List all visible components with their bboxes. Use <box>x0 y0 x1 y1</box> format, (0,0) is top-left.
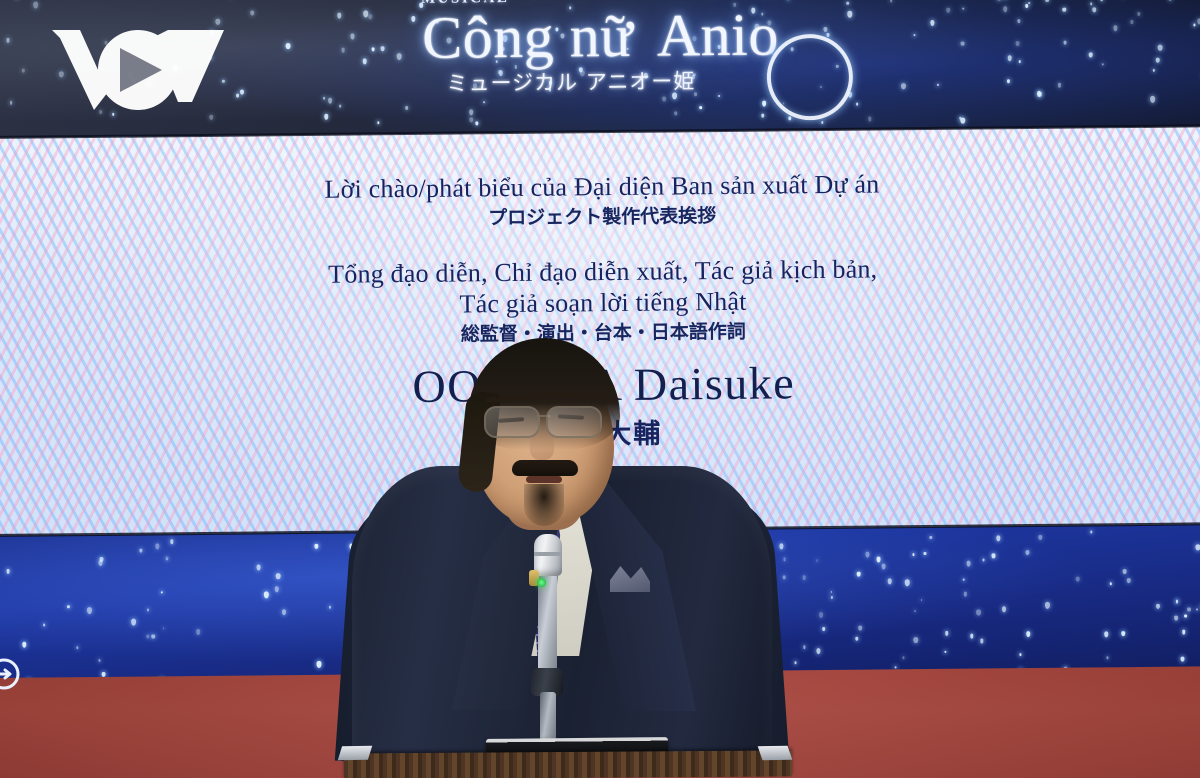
wooden-podium <box>344 750 792 778</box>
speaker-name-english: OOYAMA Daisuke <box>0 356 1200 416</box>
screenshot-stage: MUSICAL Công nữ Anio ミュージカル アニオー姫 Lời ch… <box>0 0 1200 778</box>
slide-bottom-starfield-band <box>0 524 1200 678</box>
next-slide-arrow-button[interactable] <box>0 657 21 691</box>
podium-edge-cap-left <box>338 746 372 761</box>
slide-title-accent-wrap: Anio <box>648 4 779 66</box>
microphone-led-indicator <box>537 578 546 587</box>
podium-edge-cap-right <box>758 746 793 761</box>
slide-title-main-text: Công nữ <box>422 3 634 71</box>
vov-logo-watermark <box>52 22 224 110</box>
slide-text-block: Lời chào/phát biểu của Đại diện Ban sản … <box>0 166 1200 456</box>
slide-title-accent-text: Anio <box>656 1 779 68</box>
microphone-ring <box>534 552 562 556</box>
